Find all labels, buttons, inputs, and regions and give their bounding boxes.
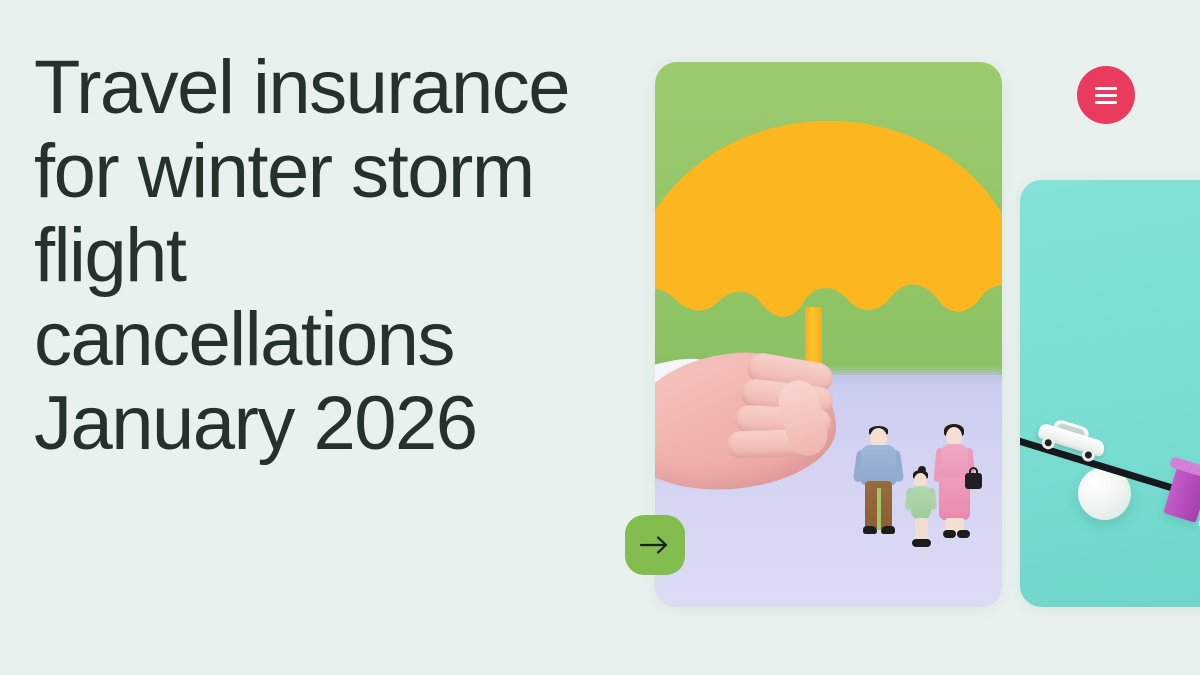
man-shoe-left <box>863 526 877 534</box>
page-title: Travel insurance for winter storm flight… <box>34 46 634 466</box>
car-balance-card[interactable] <box>1020 180 1200 607</box>
hero-stage: Travel insurance for winter storm flight… <box>0 0 1200 675</box>
child-body <box>911 486 931 520</box>
menu-button[interactable] <box>1077 66 1135 124</box>
hamburger-menu-icon-bar <box>1095 101 1117 104</box>
man-leg-gap <box>877 488 881 530</box>
umbrella-canopy-icon <box>655 117 1002 365</box>
handbag <box>965 473 982 489</box>
hamburger-menu-icon-bar <box>1095 87 1117 90</box>
man-torso <box>861 445 896 485</box>
woman-shoe-left <box>943 530 956 538</box>
umbrella-family-card[interactable] <box>655 62 1002 607</box>
child-shoes <box>912 539 931 547</box>
woman-shoe-right <box>957 530 970 538</box>
arrow-right-icon <box>640 535 670 555</box>
next-button[interactable] <box>625 515 685 575</box>
woman-torso <box>941 444 968 482</box>
man-shoe-right <box>881 526 895 534</box>
umbrella-scene <box>655 62 1002 607</box>
balance-scene <box>1020 180 1200 607</box>
family-figurines <box>851 426 971 571</box>
hamburger-menu-icon-bar <box>1095 94 1117 97</box>
